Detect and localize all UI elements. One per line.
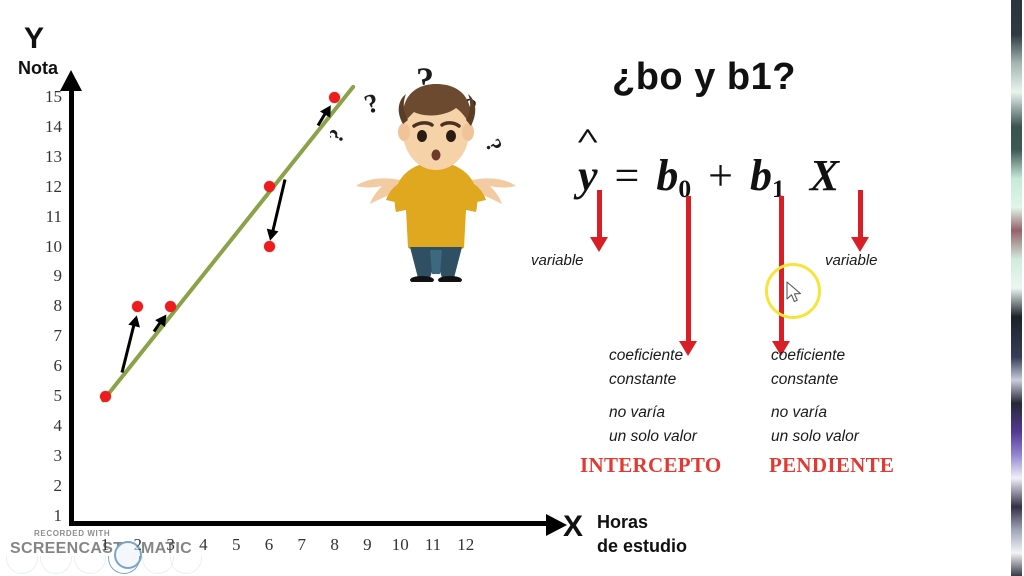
b0-line-3: no varía [609,401,697,425]
b1-line-2: constante [771,368,859,392]
svg-text:?: ? [361,87,383,120]
b0-line-1: coeficiente [609,344,697,368]
b1-line-3: no varía [771,401,859,425]
x-term: X [796,151,839,200]
svg-text:?: ? [481,135,508,156]
note-variable-left: variable [531,252,584,269]
note-variable-right: variable [825,252,878,269]
data-point [100,391,111,402]
video-edge-strip [1011,0,1022,576]
x-tick-5: 5 [223,535,249,555]
x-tick-6: 6 [256,535,282,555]
plus-sign: + [702,151,739,200]
watermark-bubbles [4,556,194,573]
x-tick-12: 12 [453,535,479,555]
b0-keyword: INTERCEPTO [580,453,721,478]
x-tick-4: 4 [190,535,216,555]
x-tick-7: 7 [289,535,315,555]
boy-svg: ? ? ? ? ? [330,52,542,282]
b0-line-4: un solo valor [609,425,697,449]
b1-keyword: PENDIENTE [769,453,894,478]
watermark-recorded-with: RECORDED WITH [34,529,110,538]
data-point [264,181,275,192]
regression-formula: y = b0 + b1 X [578,150,839,204]
x-tick-9: 9 [354,535,380,555]
y-hat: y [578,150,598,201]
b1-term: b1 [750,151,785,200]
slide-canvas: Y Nota X Horasde estudio 123456789101112… [0,0,1024,576]
panel-title: ¿bo y b1? [612,56,796,99]
screencast-watermark: RECORDED WITH SCREENCAST MATIC [4,529,194,573]
b1-line-4: un solo valor [771,425,859,449]
x-axis-label: Horasde estudio [597,510,687,559]
b0-description: coeficiente constante no varía un solo v… [609,344,697,449]
b1-line-1: coeficiente [771,344,859,368]
data-point [264,241,275,252]
x-tick-10: 10 [387,535,413,555]
equals-sign: = [609,151,646,200]
b0-line-2: constante [609,368,697,392]
x-tick-8: 8 [322,535,348,555]
data-point [165,301,176,312]
b1-description: coeficiente constante no varía un solo v… [771,344,859,449]
b0-term: b0 [656,151,691,200]
x-tick-11: 11 [420,535,446,555]
confused-boy-illustration: ? ? ? ? ? [330,52,542,282]
svg-text:?: ? [330,125,350,146]
